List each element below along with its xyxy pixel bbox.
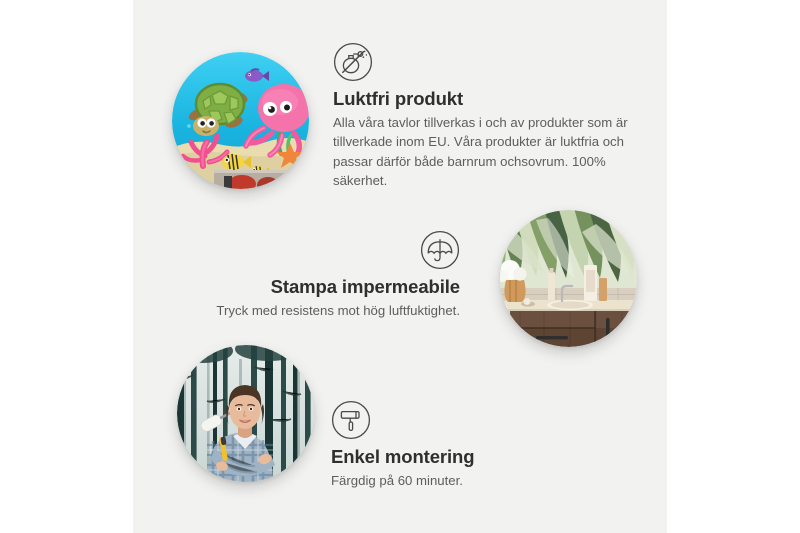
feature-title: Luktfri produkt <box>333 88 633 110</box>
feature-description: Tryck med resistens mot hög luftfuktighe… <box>200 301 460 320</box>
paint-roller-icon <box>331 400 371 440</box>
feature-description: Färgdig på 60 minuter. <box>331 471 591 490</box>
feature-easy-mounting: Enkel montering Färgdig på 60 minuter. <box>331 400 591 490</box>
feature-title: Stampa impermeabile <box>200 276 460 298</box>
photo-bathroom-interior <box>500 210 637 347</box>
feature-title: Enkel montering <box>331 446 591 468</box>
feature-waterproof-print: Stampa impermeabile Tryck med resistens … <box>200 230 460 320</box>
no-scent-spray-bottle-icon <box>333 42 373 82</box>
feature-description: Alla våra tavlor tillverkas i och av pro… <box>333 113 633 191</box>
photo-painter-forest <box>177 345 314 482</box>
feature-odour-free: Luktfri produkt Alla våra tavlor tillver… <box>333 42 633 190</box>
infographic-stage: Luktfri produkt Alla våra tavlor tillver… <box>0 0 800 533</box>
photo-underwater-mural <box>172 52 309 189</box>
umbrella-icon <box>420 230 460 270</box>
